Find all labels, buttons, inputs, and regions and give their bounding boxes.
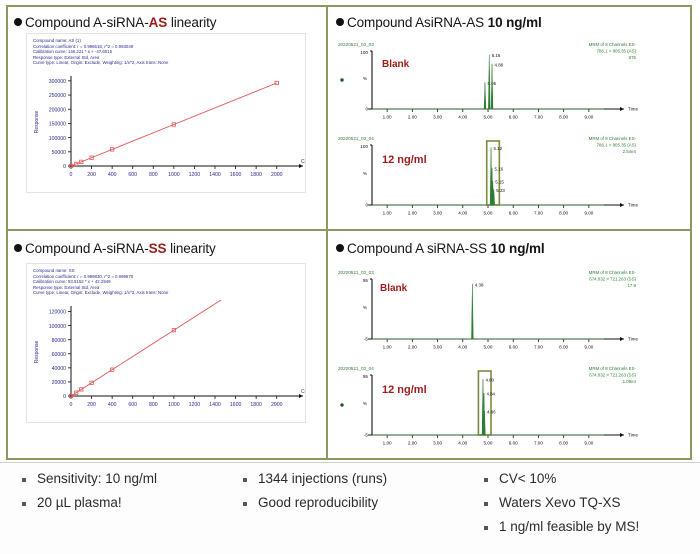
svg-text:Blank: Blank xyxy=(382,59,410,70)
horizontal-divider xyxy=(6,229,692,231)
svg-text:0: 0 xyxy=(70,172,73,178)
svg-text:5.15: 5.15 xyxy=(495,180,504,185)
svg-text:95: 95 xyxy=(363,278,369,283)
svg-text:2.54e4: 2.54e4 xyxy=(623,149,637,154)
svg-text:674.032 > 721.263 (SS): 674.032 > 721.263 (SS) xyxy=(589,373,636,378)
summary-item: 1 ng/ml feasible by MS! xyxy=(484,519,639,534)
square-bullet-icon xyxy=(22,478,26,482)
svg-text:1000: 1000 xyxy=(168,402,180,408)
summary-column-1: Sensitivity: 10 ng/ml 20 µL plasma! xyxy=(22,471,157,519)
svg-text:2000: 2000 xyxy=(271,172,283,178)
svg-text:100000: 100000 xyxy=(49,323,66,329)
panel-title-as-chrom: Compound AsiRNA-AS 10 ng/ml xyxy=(336,15,690,30)
title-text-post: linearity xyxy=(167,15,216,30)
square-bullet-icon xyxy=(243,478,247,482)
title-text-pre: Compound A-siRNA- xyxy=(25,15,149,30)
summary-item-label: 1 ng/ml feasible by MS! xyxy=(499,519,639,534)
svg-text:4.84: 4.84 xyxy=(486,392,495,397)
svg-text:7.00: 7.00 xyxy=(534,211,543,216)
svg-text:5.00: 5.00 xyxy=(484,441,493,446)
svg-text:20000: 20000 xyxy=(52,380,67,386)
summary-item-label: Sensitivity: 10 ng/ml xyxy=(37,471,157,486)
calibration-plot-ss: 0200004000060000800001000001200000200400… xyxy=(29,300,303,418)
svg-text:6.00: 6.00 xyxy=(509,345,518,350)
svg-text:300000: 300000 xyxy=(49,79,66,85)
chromatogram-as-blank: 20220521_03_03MRM of 8 Channels ES-786.1… xyxy=(336,33,684,125)
svg-text:2.00: 2.00 xyxy=(408,211,417,216)
svg-text:Time: Time xyxy=(628,433,638,438)
title-text-post: linearity xyxy=(166,241,215,256)
svg-text:3.00: 3.00 xyxy=(433,115,442,120)
calibration-params-as: Compound name: AS (1) Correlation coeffi… xyxy=(27,34,305,70)
svg-text:MRM of 8 Channels ES-: MRM of 8 Channels ES- xyxy=(589,366,637,371)
svg-text:Time: Time xyxy=(628,337,638,342)
vertical-divider xyxy=(326,7,328,460)
panel-as-linearity: Compound A-siRNA-AS linearity Compound n… xyxy=(8,7,326,229)
svg-text:2.00: 2.00 xyxy=(408,345,417,350)
panel-title-as-linearity: Compound A-siRNA-AS linearity xyxy=(14,15,326,30)
svg-text:600: 600 xyxy=(128,172,137,178)
svg-text:5.00: 5.00 xyxy=(484,345,493,350)
svg-text:12 ng/ml: 12 ng/ml xyxy=(382,154,427,166)
svg-text:40000: 40000 xyxy=(52,366,67,372)
chromatogram-as-12ngml: 20220521_03_04MRM of 8 Channels ES-786.1… xyxy=(336,125,684,221)
svg-text:MRM of 8 Channels ES-: MRM of 8 Channels ES- xyxy=(589,42,637,47)
svg-text:200000: 200000 xyxy=(49,107,66,113)
summary-bar: Sensitivity: 10 ng/ml 20 µL plasma! 1344… xyxy=(0,462,700,554)
summary-item: Sensitivity: 10 ng/ml xyxy=(22,471,157,486)
svg-text:1.09e4: 1.09e4 xyxy=(623,379,637,384)
svg-text:Time: Time xyxy=(628,203,638,208)
panel-as-chromatograms: Compound AsiRNA-AS 10 ng/ml 20220521_03_… xyxy=(330,7,690,229)
square-bullet-icon xyxy=(484,478,488,482)
svg-text:Conc: Conc xyxy=(301,159,305,165)
summary-item-label: CV< 10% xyxy=(499,471,556,486)
svg-text:5.12: 5.12 xyxy=(494,146,503,151)
cal-line-5: Curve type: Linear, Origin: Exclude, Wei… xyxy=(33,290,381,297)
svg-text:80000: 80000 xyxy=(52,337,67,343)
svg-text:-5: -5 xyxy=(364,433,369,438)
square-bullet-icon xyxy=(484,502,488,506)
svg-text:20220521_03_04: 20220521_03_04 xyxy=(338,136,374,141)
svg-text:200: 200 xyxy=(87,402,96,408)
svg-text:1.00: 1.00 xyxy=(383,211,392,216)
summary-item: Waters Xevo TQ-XS xyxy=(484,495,639,510)
svg-text:20220521_03_03: 20220521_03_03 xyxy=(338,270,374,275)
svg-text:674.032 > 721.263 (SS): 674.032 > 721.263 (SS) xyxy=(589,277,636,282)
svg-text:1.00: 1.00 xyxy=(383,441,392,446)
panel-ss-chromatograms: Compound A siRNA-SS 10 ng/ml 20220521_03… xyxy=(330,233,690,458)
svg-text:0: 0 xyxy=(70,402,73,408)
svg-text:1600: 1600 xyxy=(230,172,242,178)
svg-text:800: 800 xyxy=(149,402,158,408)
summary-item: CV< 10% xyxy=(484,471,639,486)
svg-text:1800: 1800 xyxy=(250,402,262,408)
bullet-icon xyxy=(14,18,22,26)
title-text-bold: 10 ng/ml xyxy=(491,241,545,256)
svg-text:6.00: 6.00 xyxy=(509,115,518,120)
cal-line-5: Curve type: Linear, Origin: Exclude, Wei… xyxy=(33,60,381,67)
title-text-pre: Compound AsiRNA-AS xyxy=(347,15,488,30)
svg-text:250000: 250000 xyxy=(49,93,66,99)
svg-text:3.00: 3.00 xyxy=(433,211,442,216)
panel-ss-linearity: Compound A-siRNA-SS linearity Compound n… xyxy=(8,233,326,458)
svg-text:0: 0 xyxy=(365,203,368,208)
summary-column-3: CV< 10% Waters Xevo TQ-XS 1 ng/ml feasib… xyxy=(484,471,639,543)
svg-text:875: 875 xyxy=(629,55,637,60)
svg-text:MRM of 8 Channels ES-: MRM of 8 Channels ES- xyxy=(589,270,637,275)
bullet-icon xyxy=(336,244,344,252)
svg-text:100: 100 xyxy=(360,144,368,149)
svg-text:786.1 > 805.35 (AS): 786.1 > 805.35 (AS) xyxy=(597,143,637,148)
svg-text:9.00: 9.00 xyxy=(584,115,593,120)
svg-text:4.00: 4.00 xyxy=(458,211,467,216)
slide-root: Compound A-siRNA-AS linearity Compound n… xyxy=(0,0,700,554)
svg-text:7.00: 7.00 xyxy=(534,345,543,350)
svg-text:8.00: 8.00 xyxy=(559,115,568,120)
svg-text:4.80: 4.80 xyxy=(485,378,494,383)
svg-text:12 ng/ml: 12 ng/ml xyxy=(382,384,427,396)
title-text-pre: Compound A siRNA-SS xyxy=(347,241,491,256)
svg-text:7.00: 7.00 xyxy=(534,441,543,446)
svg-text:%: % xyxy=(363,76,367,81)
svg-text:200: 200 xyxy=(87,172,96,178)
svg-text:9.00: 9.00 xyxy=(584,345,593,350)
title-text-bold: 10 ng/ml xyxy=(488,15,542,30)
chromatogram-ss-12ngml: 20220521_03_04MRM of 8 Channels ES-674.0… xyxy=(336,355,684,451)
svg-text:Time: Time xyxy=(628,107,638,112)
svg-text:9.00: 9.00 xyxy=(584,441,593,446)
svg-text:0: 0 xyxy=(365,107,368,112)
svg-text:3.00: 3.00 xyxy=(433,441,442,446)
chromatogram-ss-blank: 20220521_03_03MRM of 8 Channels ES-674.0… xyxy=(336,259,684,355)
calibration-card-ss: Compound name: SS Correlation coefficien… xyxy=(26,263,306,423)
svg-text:600: 600 xyxy=(128,402,137,408)
svg-text:4.86: 4.86 xyxy=(487,410,496,415)
summary-item-label: 20 µL plasma! xyxy=(37,495,122,510)
svg-text:5.00: 5.00 xyxy=(484,115,493,120)
svg-text:4.38: 4.38 xyxy=(475,282,484,287)
svg-text:Response: Response xyxy=(34,340,40,363)
svg-text:50000: 50000 xyxy=(52,150,67,156)
summary-item-label: Good reproducibility xyxy=(258,495,378,510)
svg-text:1.00: 1.00 xyxy=(383,115,392,120)
summary-column-2: 1344 injections (runs) Good reproducibil… xyxy=(243,471,387,519)
svg-text:100: 100 xyxy=(360,50,368,55)
svg-text:5.16: 5.16 xyxy=(495,166,504,171)
svg-text:20220521_03_03: 20220521_03_03 xyxy=(338,42,374,47)
summary-item: Good reproducibility xyxy=(243,495,387,510)
svg-text:17.9: 17.9 xyxy=(627,283,636,288)
svg-text:786.1 > 805.35 (AS): 786.1 > 805.35 (AS) xyxy=(597,49,637,54)
svg-text:4.88: 4.88 xyxy=(495,62,504,67)
svg-text:150000: 150000 xyxy=(49,121,66,127)
svg-text:MRM of 8 Channels ES-: MRM of 8 Channels ES- xyxy=(589,136,637,141)
svg-text:5.16: 5.16 xyxy=(492,53,501,58)
svg-text:4.00: 4.00 xyxy=(458,115,467,120)
panel-title-ss-chrom: Compound A siRNA-SS 10 ng/ml xyxy=(336,241,690,256)
svg-text:120000: 120000 xyxy=(49,309,66,315)
svg-text:%: % xyxy=(363,305,367,310)
svg-text:800: 800 xyxy=(149,172,158,178)
svg-text:60000: 60000 xyxy=(52,352,67,358)
summary-item-label: 1344 injections (runs) xyxy=(258,471,387,486)
square-bullet-icon xyxy=(243,502,247,506)
title-text-highlight: SS xyxy=(149,241,167,256)
svg-text:4.00: 4.00 xyxy=(458,345,467,350)
title-text-pre: Compound A-siRNA- xyxy=(25,241,149,256)
svg-text:1400: 1400 xyxy=(209,402,221,408)
svg-text:8.00: 8.00 xyxy=(559,441,568,446)
svg-text:8.00: 8.00 xyxy=(559,345,568,350)
square-bullet-icon xyxy=(484,526,488,530)
svg-text:Conc: Conc xyxy=(301,389,305,395)
svg-text:8.00: 8.00 xyxy=(559,211,568,216)
svg-text:1200: 1200 xyxy=(189,402,201,408)
summary-item: 20 µL plasma! xyxy=(22,495,157,510)
square-bullet-icon xyxy=(22,502,26,506)
svg-text:%: % xyxy=(363,171,367,176)
svg-text:0: 0 xyxy=(63,164,66,170)
svg-text:400: 400 xyxy=(108,402,117,408)
svg-text:4.00: 4.00 xyxy=(458,441,467,446)
title-text-highlight: AS xyxy=(149,15,168,30)
svg-text:-5: -5 xyxy=(364,337,369,342)
svg-text:7.00: 7.00 xyxy=(534,115,543,120)
summary-item-label: Waters Xevo TQ-XS xyxy=(499,495,621,510)
svg-text:1200: 1200 xyxy=(189,172,201,178)
summary-item: 1344 injections (runs) xyxy=(243,471,387,486)
svg-text:2000: 2000 xyxy=(271,402,283,408)
svg-text:%: % xyxy=(363,401,367,406)
bullet-icon xyxy=(14,244,22,252)
svg-text:5.23: 5.23 xyxy=(496,188,505,193)
svg-text:100000: 100000 xyxy=(49,135,66,141)
svg-text:6.00: 6.00 xyxy=(509,211,518,216)
svg-text:9.00: 9.00 xyxy=(584,211,593,216)
calibration-plot-as: 0500001000001500002000002500003000000200… xyxy=(29,70,303,188)
svg-text:1000: 1000 xyxy=(168,172,180,178)
svg-text:1800: 1800 xyxy=(250,172,262,178)
calibration-params-ss: Compound name: SS Correlation coefficien… xyxy=(27,264,305,300)
calibration-card-as: Compound name: AS (1) Correlation coeffi… xyxy=(26,33,306,193)
panel-title-ss-linearity: Compound A-siRNA-SS linearity xyxy=(14,241,326,256)
svg-text:1600: 1600 xyxy=(230,402,242,408)
svg-text:1.00: 1.00 xyxy=(383,345,392,350)
svg-text:3.00: 3.00 xyxy=(433,345,442,350)
svg-text:Response: Response xyxy=(34,110,40,133)
svg-text:95: 95 xyxy=(363,374,369,379)
svg-text:0: 0 xyxy=(63,394,66,400)
svg-text:20220521_03_04: 20220521_03_04 xyxy=(338,366,374,371)
svg-text:Blank: Blank xyxy=(380,283,408,294)
bullet-icon xyxy=(336,18,344,26)
svg-text:6.00: 6.00 xyxy=(509,441,518,446)
svg-text:1400: 1400 xyxy=(209,172,221,178)
svg-text:2.00: 2.00 xyxy=(408,441,417,446)
svg-text:400: 400 xyxy=(108,172,117,178)
svg-text:5.00: 5.00 xyxy=(484,211,493,216)
svg-text:2.00: 2.00 xyxy=(408,115,417,120)
